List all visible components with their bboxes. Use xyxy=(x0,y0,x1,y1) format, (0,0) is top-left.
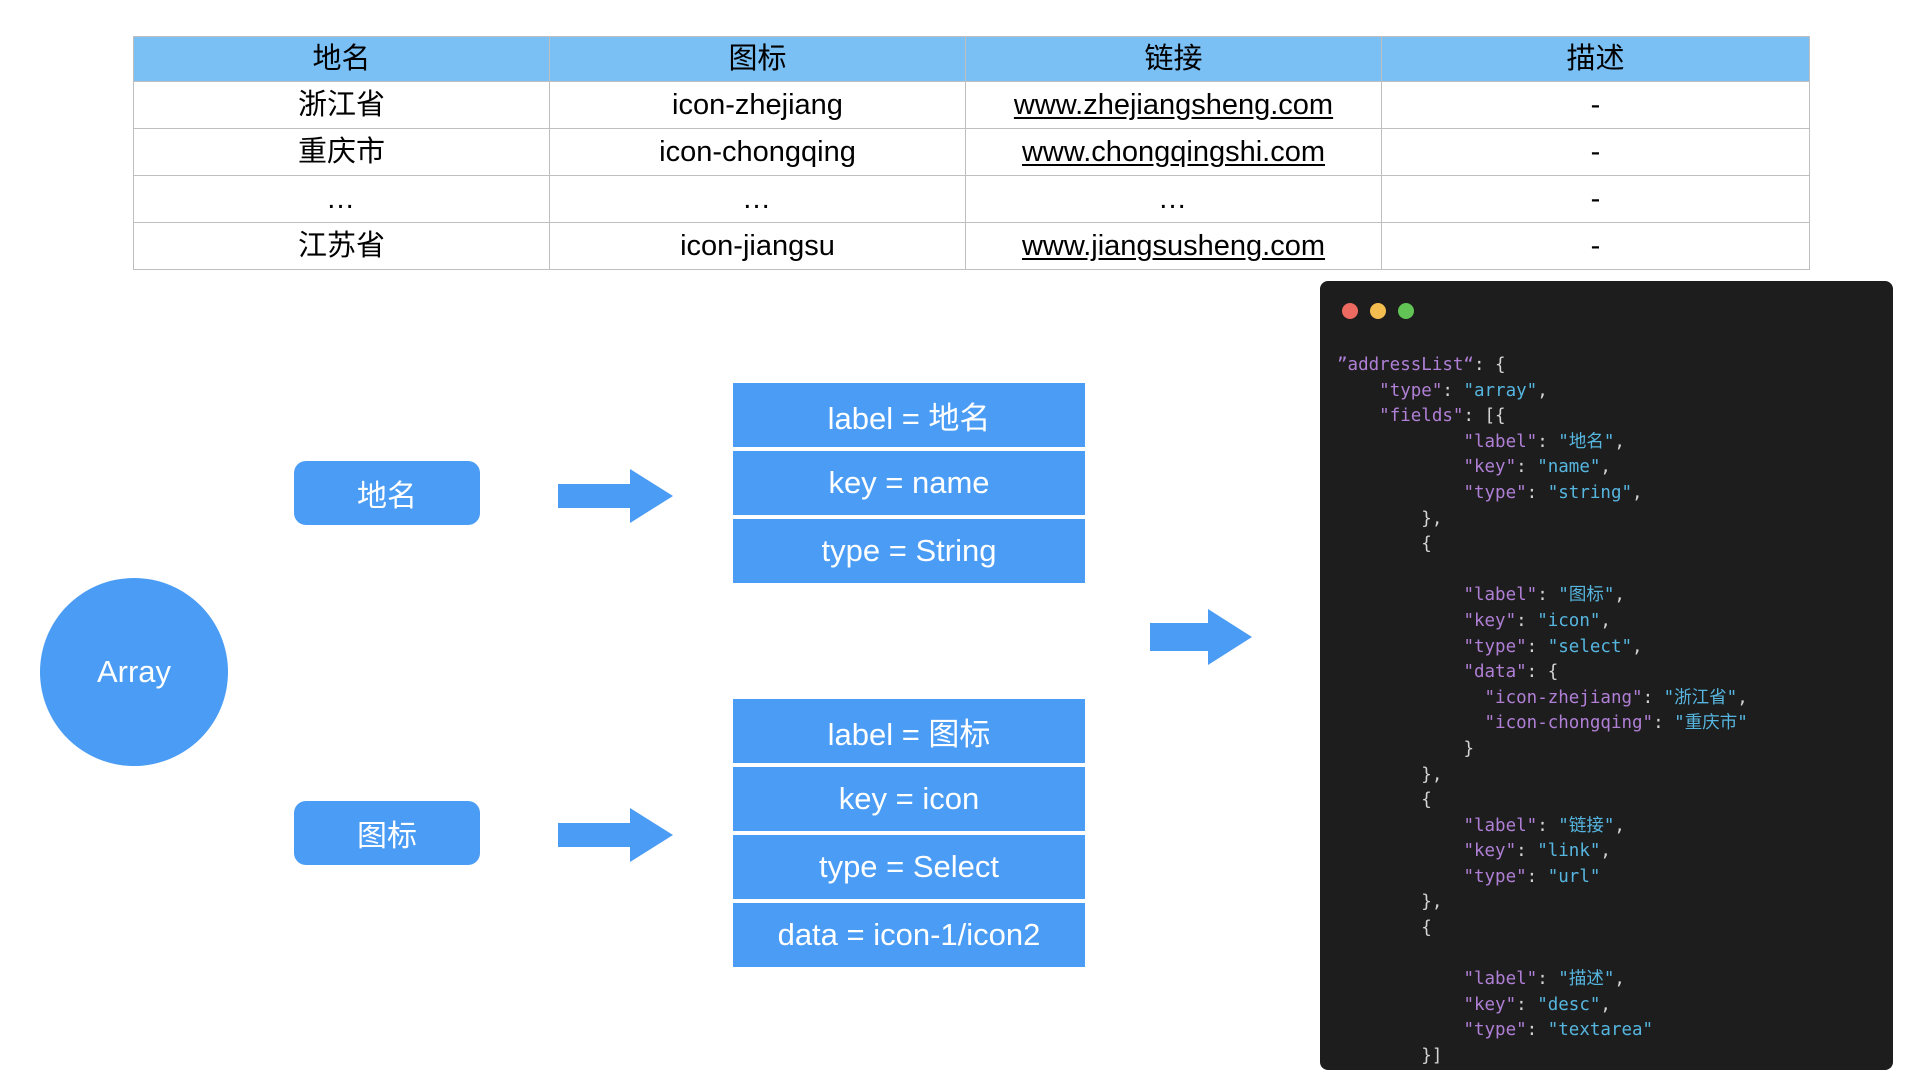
code-token-punct: : xyxy=(1442,381,1463,401)
cell-desc: - xyxy=(1382,223,1810,270)
code-token-str: "select" xyxy=(1548,637,1632,657)
code-token-punct: { xyxy=(1421,790,1432,810)
code-line: "type": "select", xyxy=(1337,635,1887,661)
code-line: "key": "link", xyxy=(1337,839,1887,865)
cell-name: 重庆市 xyxy=(134,129,550,176)
code-token-str: "图标" xyxy=(1558,585,1614,605)
code-token-punct: : { xyxy=(1527,662,1559,682)
code-line: "label": "图标", xyxy=(1337,583,1887,609)
code-line: "key": "icon", xyxy=(1337,609,1887,635)
code-token-punct: : xyxy=(1643,688,1664,708)
code-token-punct: , xyxy=(1600,995,1611,1015)
code-line: }, xyxy=(1337,507,1887,533)
code-line: }, xyxy=(1337,763,1887,789)
close-icon[interactable] xyxy=(1342,303,1358,319)
code-line: "fields": [{ xyxy=(1337,404,1887,430)
cell-link[interactable]: www.zhejiangsheng.com xyxy=(966,82,1382,129)
field-row-type: type = String xyxy=(733,519,1085,583)
code-token-punct: , xyxy=(1737,688,1748,708)
cell-desc: - xyxy=(1382,82,1810,129)
pill-node-icon: 图标 xyxy=(294,801,480,865)
code-line: "label": "地名", xyxy=(1337,430,1887,456)
code-token-punct: : xyxy=(1516,457,1537,477)
code-token-str: "icon" xyxy=(1537,611,1600,631)
code-token-punct: { xyxy=(1421,918,1432,938)
code-token-punct: , xyxy=(1614,816,1625,836)
code-line: "key": "name", xyxy=(1337,455,1887,481)
code-token-punct: : xyxy=(1527,867,1548,887)
code-line: "type": "textarea" xyxy=(1337,1018,1887,1044)
code-token-punct: : [{ xyxy=(1463,406,1505,426)
cell-link: … xyxy=(966,176,1382,223)
cell-icon: icon-chongqing xyxy=(550,129,966,176)
code-token-punct: : xyxy=(1653,713,1674,733)
table-header-desc: 描述 xyxy=(1382,37,1810,82)
code-line: "icon-zhejiang": "浙江省", xyxy=(1337,686,1887,712)
code-token-punct: { xyxy=(1421,534,1432,554)
code-line: ”addressList“: { xyxy=(1337,353,1887,379)
window-controls xyxy=(1342,303,1414,319)
arrow-right-icon-name xyxy=(558,467,673,525)
table-header-name: 地名 xyxy=(134,37,550,82)
code-token-key: "type" xyxy=(1463,867,1526,887)
code-line: }] xyxy=(1337,1044,1887,1070)
cell-desc: - xyxy=(1382,176,1810,223)
diagram-canvas: 地名 图标 链接 描述 浙江省 icon-zhejiang www.zhejia… xyxy=(0,0,1920,1080)
code-line: "data": { xyxy=(1337,660,1887,686)
code-line: "type": "array", xyxy=(1337,379,1887,405)
code-token-key: "fields" xyxy=(1379,406,1463,426)
code-token-key: "key" xyxy=(1463,457,1516,477)
code-token-key: "type" xyxy=(1379,381,1442,401)
field-row-data: data = icon-1/icon2 xyxy=(733,903,1085,967)
code-token-punct: : xyxy=(1516,611,1537,631)
code-line xyxy=(1337,942,1887,968)
code-token-root: ”addressList“ xyxy=(1337,355,1474,375)
code-token-punct: : xyxy=(1537,585,1558,605)
code-window: ”addressList“: { "type": "array", "field… xyxy=(1320,281,1893,1070)
code-token-str: "url" xyxy=(1548,867,1601,887)
link-text[interactable]: www.jiangsusheng.com xyxy=(1022,230,1325,262)
code-token-key: "type" xyxy=(1463,1020,1526,1040)
code-token-punct: , xyxy=(1600,611,1611,631)
field-row-label: label = 图标 xyxy=(733,699,1085,763)
code-token-punct: } xyxy=(1463,739,1474,759)
code-token-punct: : xyxy=(1516,995,1537,1015)
code-line: "label": "链接", xyxy=(1337,814,1887,840)
code-token-str: "重庆市" xyxy=(1674,713,1748,733)
link-text[interactable]: www.zhejiangsheng.com xyxy=(1014,89,1333,121)
code-token-punct: , xyxy=(1632,483,1643,503)
code-line: { xyxy=(1337,788,1887,814)
code-token-key: "key" xyxy=(1463,611,1516,631)
cell-name: 江苏省 xyxy=(134,223,550,270)
code-line: } xyxy=(1337,737,1887,763)
code-line: { xyxy=(1337,532,1887,558)
code-line xyxy=(1337,558,1887,584)
cell-desc: - xyxy=(1382,129,1810,176)
code-token-punct: , xyxy=(1632,637,1643,657)
code-token-punct: }, xyxy=(1421,509,1442,529)
code-token-punct: }] xyxy=(1421,1046,1442,1066)
cell-name: … xyxy=(134,176,550,223)
field-stack-name: label = 地名 key = name type = String xyxy=(733,383,1085,583)
array-root-label: Array xyxy=(97,654,171,690)
code-token-punct: }, xyxy=(1421,892,1442,912)
code-line: "label": "描述", xyxy=(1337,967,1887,993)
cell-icon: … xyxy=(550,176,966,223)
pill-node-icon-label: 图标 xyxy=(357,811,417,855)
table-row: … … … - xyxy=(134,176,1810,223)
code-token-key: "key" xyxy=(1463,841,1516,861)
code-token-str: "描述" xyxy=(1558,969,1614,989)
field-row-key: key = icon xyxy=(733,767,1085,831)
minimize-icon[interactable] xyxy=(1370,303,1386,319)
table-head: 地名 图标 链接 描述 xyxy=(134,37,1810,82)
code-token-key: "type" xyxy=(1463,637,1526,657)
code-token-key: "type" xyxy=(1463,483,1526,503)
maximize-icon[interactable] xyxy=(1398,303,1414,319)
code-token-str: "link" xyxy=(1537,841,1600,861)
code-token-punct: : { xyxy=(1474,355,1506,375)
code-token-key: "icon-zhejiang" xyxy=(1485,688,1643,708)
cell-link[interactable]: www.jiangsusheng.com xyxy=(966,223,1382,270)
code-content: ”addressList“: { "type": "array", "field… xyxy=(1337,353,1887,1070)
code-token-punct: , xyxy=(1600,841,1611,861)
code-token-key: "label" xyxy=(1463,585,1537,605)
table-row: 重庆市 icon-chongqing www.chongqingshi.com … xyxy=(134,129,1810,176)
table-header-row: 地名 图标 链接 描述 xyxy=(134,37,1810,82)
code-token-punct: : xyxy=(1516,841,1537,861)
code-token-key: "icon-chongqing" xyxy=(1485,713,1654,733)
pill-node-name: 地名 xyxy=(294,461,480,525)
arrow-right-icon-icon xyxy=(558,806,673,864)
code-token-punct: : xyxy=(1537,432,1558,452)
code-token-punct: : xyxy=(1537,816,1558,836)
code-token-str: "地名" xyxy=(1558,432,1614,452)
code-token-punct: , xyxy=(1600,457,1611,477)
pill-node-name-label: 地名 xyxy=(357,471,417,515)
code-token-punct: , xyxy=(1614,969,1625,989)
code-token-punct: , xyxy=(1537,381,1548,401)
code-token-punct: }, xyxy=(1421,765,1442,785)
cell-name: 浙江省 xyxy=(134,82,550,129)
code-line: "icon-chongqing": "重庆市" xyxy=(1337,711,1887,737)
code-line: }, xyxy=(1337,890,1887,916)
array-root-node: Array xyxy=(40,578,228,766)
code-token-str: "desc" xyxy=(1537,995,1600,1015)
field-row-key: key = name xyxy=(733,451,1085,515)
code-token-key: "data" xyxy=(1463,662,1526,682)
code-token-str: "string" xyxy=(1548,483,1632,503)
code-line: "key": "desc", xyxy=(1337,993,1887,1019)
table-header-link: 链接 xyxy=(966,37,1382,82)
link-text[interactable]: www.chongqingshi.com xyxy=(1022,136,1325,168)
code-token-str: "textarea" xyxy=(1548,1020,1653,1040)
arrow-right-icon-result xyxy=(1150,607,1252,667)
code-token-key: "label" xyxy=(1463,816,1537,836)
table-header-icon: 图标 xyxy=(550,37,966,82)
code-token-key: "key" xyxy=(1463,995,1516,1015)
code-token-punct: : xyxy=(1527,483,1548,503)
code-token-punct: : xyxy=(1537,969,1558,989)
table-row: 江苏省 icon-jiangsu www.jiangsusheng.com - xyxy=(134,223,1810,270)
code-token-punct: , xyxy=(1614,432,1625,452)
cell-icon: icon-zhejiang xyxy=(550,82,966,129)
code-line: { xyxy=(1337,916,1887,942)
field-stack-icon: label = 图标 key = icon type = Select data… xyxy=(733,699,1085,967)
code-token-str: "浙江省" xyxy=(1664,688,1738,708)
code-token-key: "label" xyxy=(1463,432,1537,452)
code-token-punct: , xyxy=(1614,585,1625,605)
cell-icon: icon-jiangsu xyxy=(550,223,966,270)
code-token-str: "name" xyxy=(1537,457,1600,477)
table-body: 浙江省 icon-zhejiang www.zhejiangsheng.com … xyxy=(134,82,1810,270)
cell-link[interactable]: www.chongqingshi.com xyxy=(966,129,1382,176)
code-token-punct: : xyxy=(1527,1020,1548,1040)
code-line: "type": "url" xyxy=(1337,865,1887,891)
field-row-label: label = 地名 xyxy=(733,383,1085,447)
code-token-key: "label" xyxy=(1463,969,1537,989)
address-spec-table: 地名 图标 链接 描述 浙江省 icon-zhejiang www.zhejia… xyxy=(133,36,1810,270)
table-row: 浙江省 icon-zhejiang www.zhejiangsheng.com … xyxy=(134,82,1810,129)
code-token-str: "链接" xyxy=(1558,816,1614,836)
code-token-punct: : xyxy=(1527,637,1548,657)
code-token-str: "array" xyxy=(1463,381,1537,401)
code-line: "type": "string", xyxy=(1337,481,1887,507)
field-row-type: type = Select xyxy=(733,835,1085,899)
